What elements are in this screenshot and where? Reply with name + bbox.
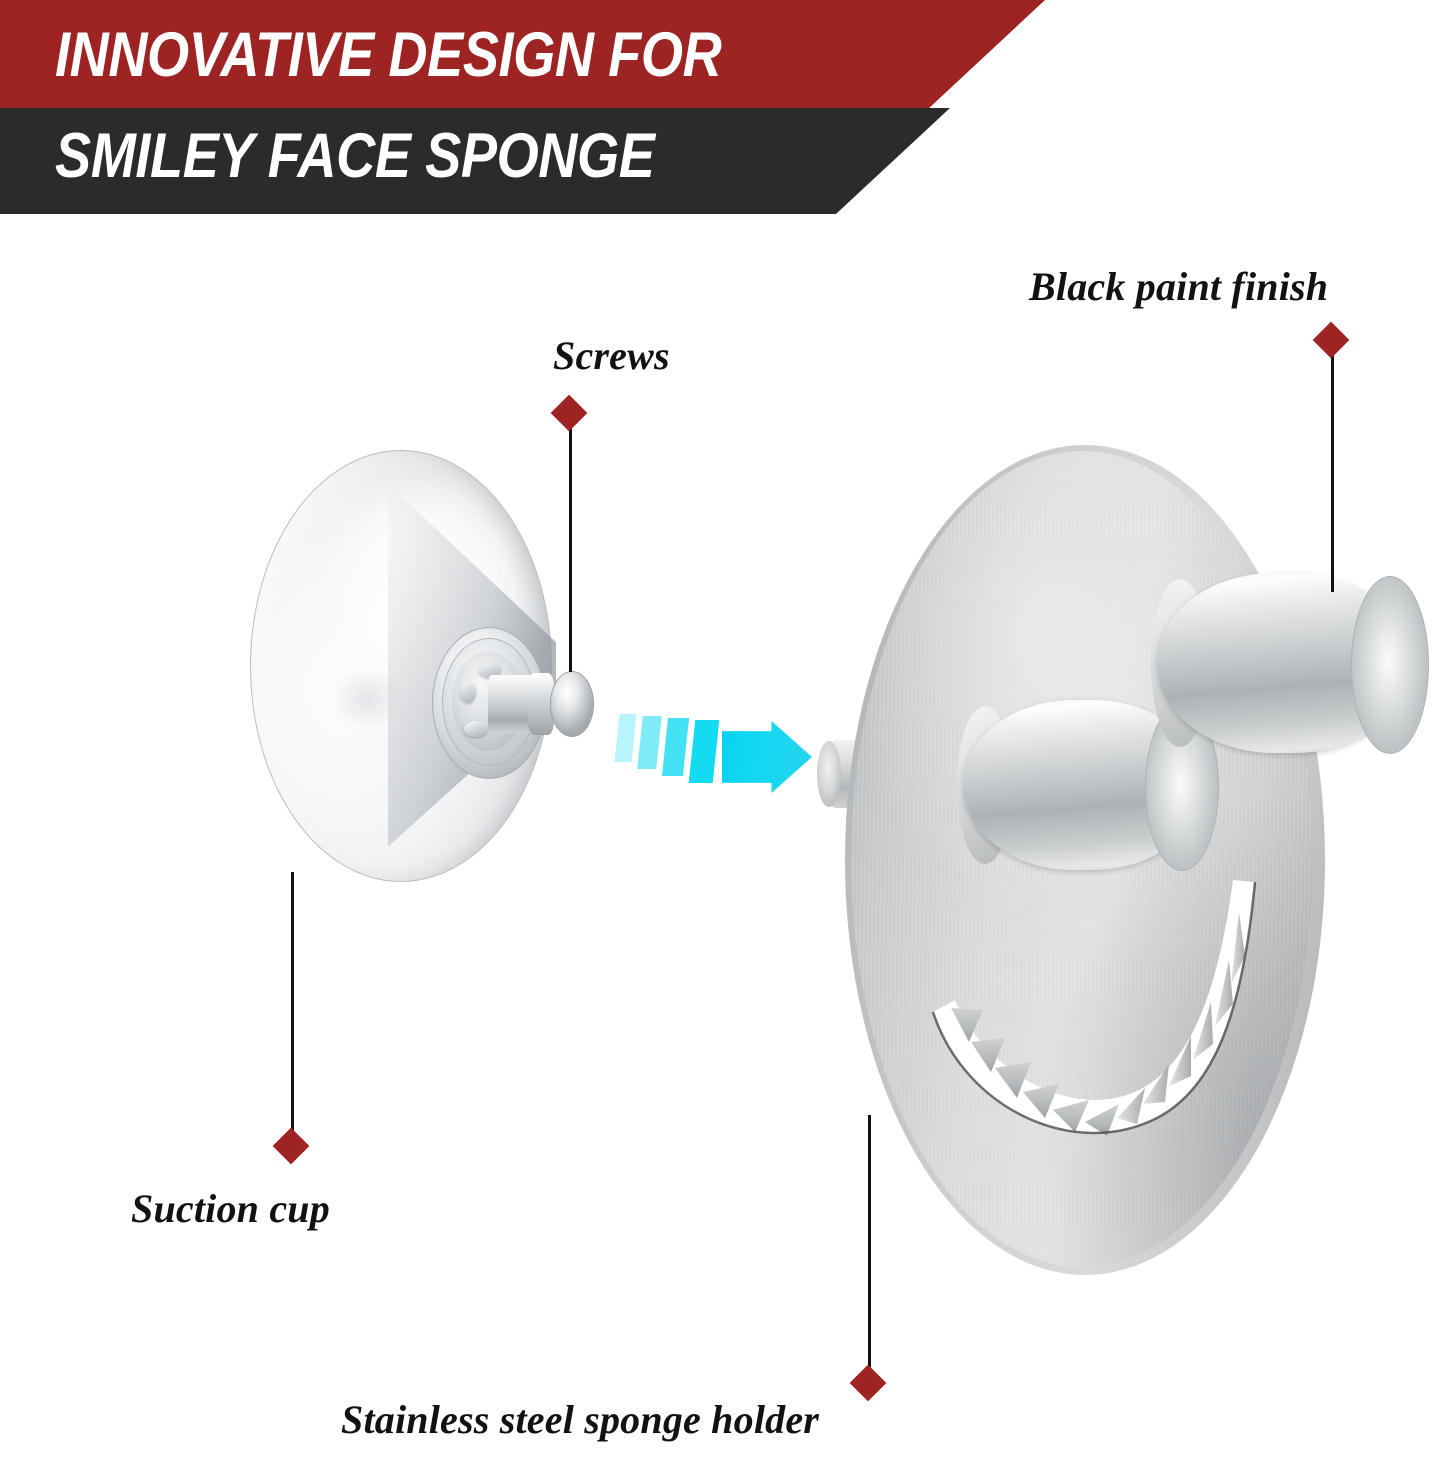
screw-head-cap bbox=[550, 671, 594, 737]
callout-label-suction-cup: Suction cup bbox=[131, 1185, 330, 1232]
arrow-bar-4 bbox=[689, 720, 720, 783]
callout-label-screws: Screws bbox=[553, 332, 670, 379]
callout-label-stainless-steel-sponge-holder: Stainless steel sponge holder bbox=[341, 1396, 819, 1443]
screw-hub-notch-left bbox=[460, 681, 476, 703]
leader-line-suction-cup bbox=[291, 872, 294, 1140]
callout-label-black-paint-finish: Black paint finish bbox=[1029, 263, 1328, 310]
diamond-marker-black-paint-finish bbox=[1313, 322, 1350, 359]
mounting-post-cap bbox=[817, 741, 841, 807]
arrow-bar-3 bbox=[662, 718, 689, 776]
header-title-line1: INNOVATIVE DESIGN FOR bbox=[55, 18, 721, 92]
diamond-marker-screws bbox=[551, 395, 588, 432]
stainless-steel-sponge-holder bbox=[845, 445, 1325, 1275]
diamond-marker-stainless-steel-sponge-holder bbox=[850, 1365, 887, 1402]
product-infographic: INNOVATIVE DESIGN FOR SMILEY FACE SPONGE bbox=[0, 0, 1445, 1459]
knob-upper-cap bbox=[1351, 576, 1429, 754]
leader-line-screws bbox=[569, 427, 572, 672]
screw bbox=[432, 625, 612, 780]
leader-line-black-paint-finish bbox=[1331, 354, 1334, 592]
knob-upper bbox=[1157, 573, 1412, 753]
arrow-bar-1 bbox=[614, 714, 636, 762]
header-title-line2: SMILEY FACE SPONGE bbox=[55, 119, 654, 193]
screw-hub-notch-bottom bbox=[464, 721, 488, 737]
arrow-bar-2 bbox=[637, 716, 662, 769]
diamond-marker-suction-cup bbox=[273, 1128, 310, 1165]
suction-cup-sheen bbox=[316, 656, 418, 742]
arrow-head bbox=[722, 721, 812, 793]
assembly-direction-arrow bbox=[617, 705, 817, 805]
leader-line-stainless-steel-sponge-holder bbox=[868, 1115, 871, 1377]
